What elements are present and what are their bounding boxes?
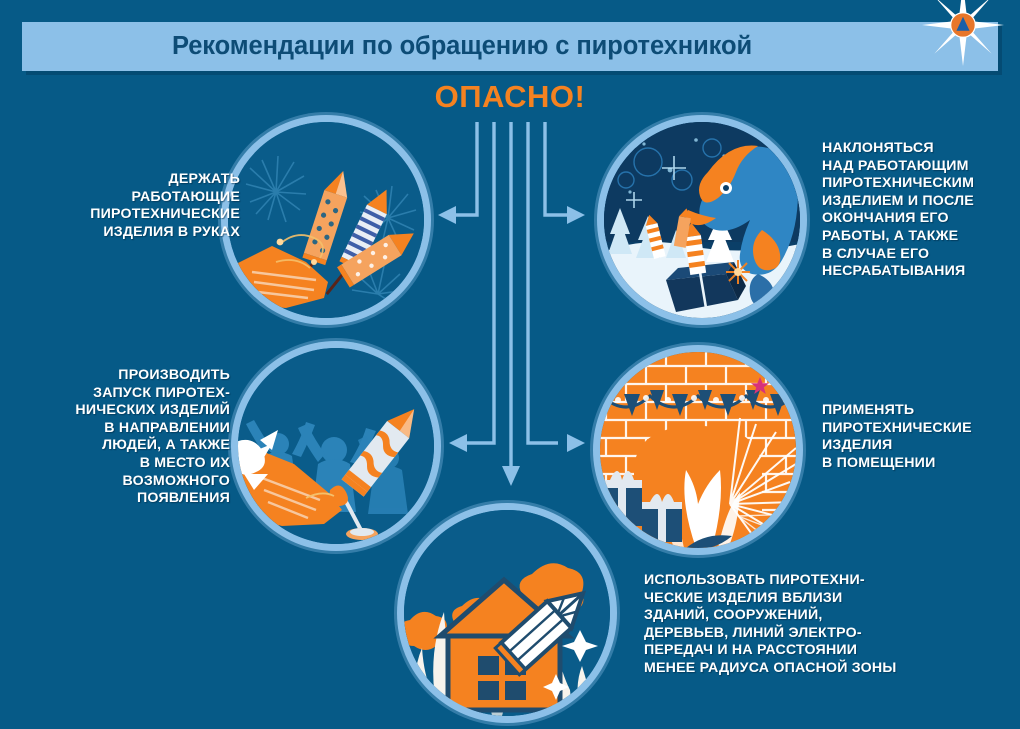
caption-house: ИСПОЛЬЗОВАТЬ ПИРОТЕХНИ- ЧЕСКИЕ ИЗДЕЛИЯ В… [644, 572, 896, 678]
illustration-rocket-toward-crowd [238, 348, 434, 544]
caption-line: НАКЛОНЯТЬСЯ [822, 140, 974, 158]
caption-line: ЗАПУСК ПИРОТЕХ- [75, 385, 230, 403]
caption-line: ВОЗМОЖНОГО [75, 473, 230, 491]
caption-line: ДЕРЕВЬЕВ, ЛИНИЙ ЭЛЕКТРО- [644, 625, 896, 643]
illustration-burning-house-and-rocket [404, 510, 610, 716]
illustration-person-bending-over-fireworks [604, 122, 800, 318]
page-title: Рекомендации по обращению с пиротехникой [22, 22, 902, 71]
arrow-head-left-top [438, 206, 456, 224]
caption-hands: ДЕРЖАТЬ РАБОТАЮЩИЕ ПИРОТЕХНИЧЕСКИЕ ИЗДЕЛ… [90, 171, 240, 241]
caption-line: НИЧЕСКИХ ИЗДЕЛИЙ [75, 402, 230, 420]
caption-line: ДЕРЖАТЬ [90, 171, 240, 189]
caption-line: В ПОМЕЩЕНИИ [822, 455, 972, 473]
caption-line: ПОЯВЛЕНИЯ [75, 490, 230, 508]
illustration-hand-holding-rockets [228, 122, 424, 318]
caption-line: ИЗДЕЛИЯ В РУКАХ [90, 224, 240, 242]
caption-line: ЛЮДЕЙ, А ТАКЖЕ [75, 437, 230, 455]
caption-line: ЗДАНИЙ, СООРУЖЕНИЙ, [644, 607, 896, 625]
caption-line: ПРИМЕНЯТЬ [822, 402, 972, 420]
arrow-head-down [502, 466, 520, 486]
caption-bending: НАКЛОНЯТЬСЯ НАД РАБОТАЮЩИМ ПИРОТЕХНИЧЕСК… [822, 140, 974, 281]
caption-line: НАД РАБОТАЮЩИМ [822, 158, 974, 176]
caption-line: РАБОТАЮЩИЕ [90, 189, 240, 207]
caption-line: В СЛУЧАЕ ЕГО [822, 246, 974, 264]
caption-line: МЕНЕЕ РАДИУСА ОПАСНОЙ ЗОНЫ [644, 660, 896, 678]
caption-line: ИЗДЕЛИЕМ И ПОСЛЕ [822, 193, 974, 211]
caption-line: РАБОТЫ, А ТАКЖЕ [822, 228, 974, 246]
caption-line: ОКОНЧАНИЯ ЕГО [822, 210, 974, 228]
caption-line: ПИРОТЕХНИЧЕСКИЕ [90, 206, 240, 224]
illustration-fireworks-indoors [600, 352, 796, 548]
caption-line: ПИРОТЕХНИЧЕСКИМ [822, 175, 974, 193]
arrow-head-right-mid [567, 434, 585, 452]
emercom-star-logo [922, 0, 1004, 66]
danger-label: ОПАСНО! [0, 79, 1020, 115]
header-bar: Рекомендации по обращению с пиротехникой [22, 22, 998, 71]
infographic-poster: Рекомендации по обращению с пиротехникой… [0, 0, 1020, 729]
caption-line: ИСПОЛЬЗОВАТЬ ПИРОТЕХНИ- [644, 572, 896, 590]
caption-line: В МЕСТО ИХ [75, 455, 230, 473]
caption-line: ПЕРЕДАЧ И НА РАССТОЯНИИ [644, 642, 896, 660]
arrow-head-left-mid [449, 434, 467, 452]
caption-crowd: ПРОИЗВОДИТЬ ЗАПУСК ПИРОТЕХ- НИЧЕСКИХ ИЗД… [75, 367, 230, 508]
caption-line: ЧЕСКИЕ ИЗДЕЛИЯ ВБЛИЗИ [644, 590, 896, 608]
arrow-head-right-top [567, 206, 585, 224]
caption-line: ПРОИЗВОДИТЬ [75, 367, 230, 385]
caption-indoor: ПРИМЕНЯТЬ ПИРОТЕХНИЧЕСКИЕ ИЗДЕЛИЯ В ПОМЕ… [822, 402, 972, 472]
caption-line: НЕСРАБАТЫВАНИЯ [822, 263, 974, 281]
caption-line: В НАПРАВЛЕНИИ [75, 420, 230, 438]
caption-line: ИЗДЕЛИЯ [822, 437, 972, 455]
caption-line: ПИРОТЕХНИЧЕСКИЕ [822, 420, 972, 438]
